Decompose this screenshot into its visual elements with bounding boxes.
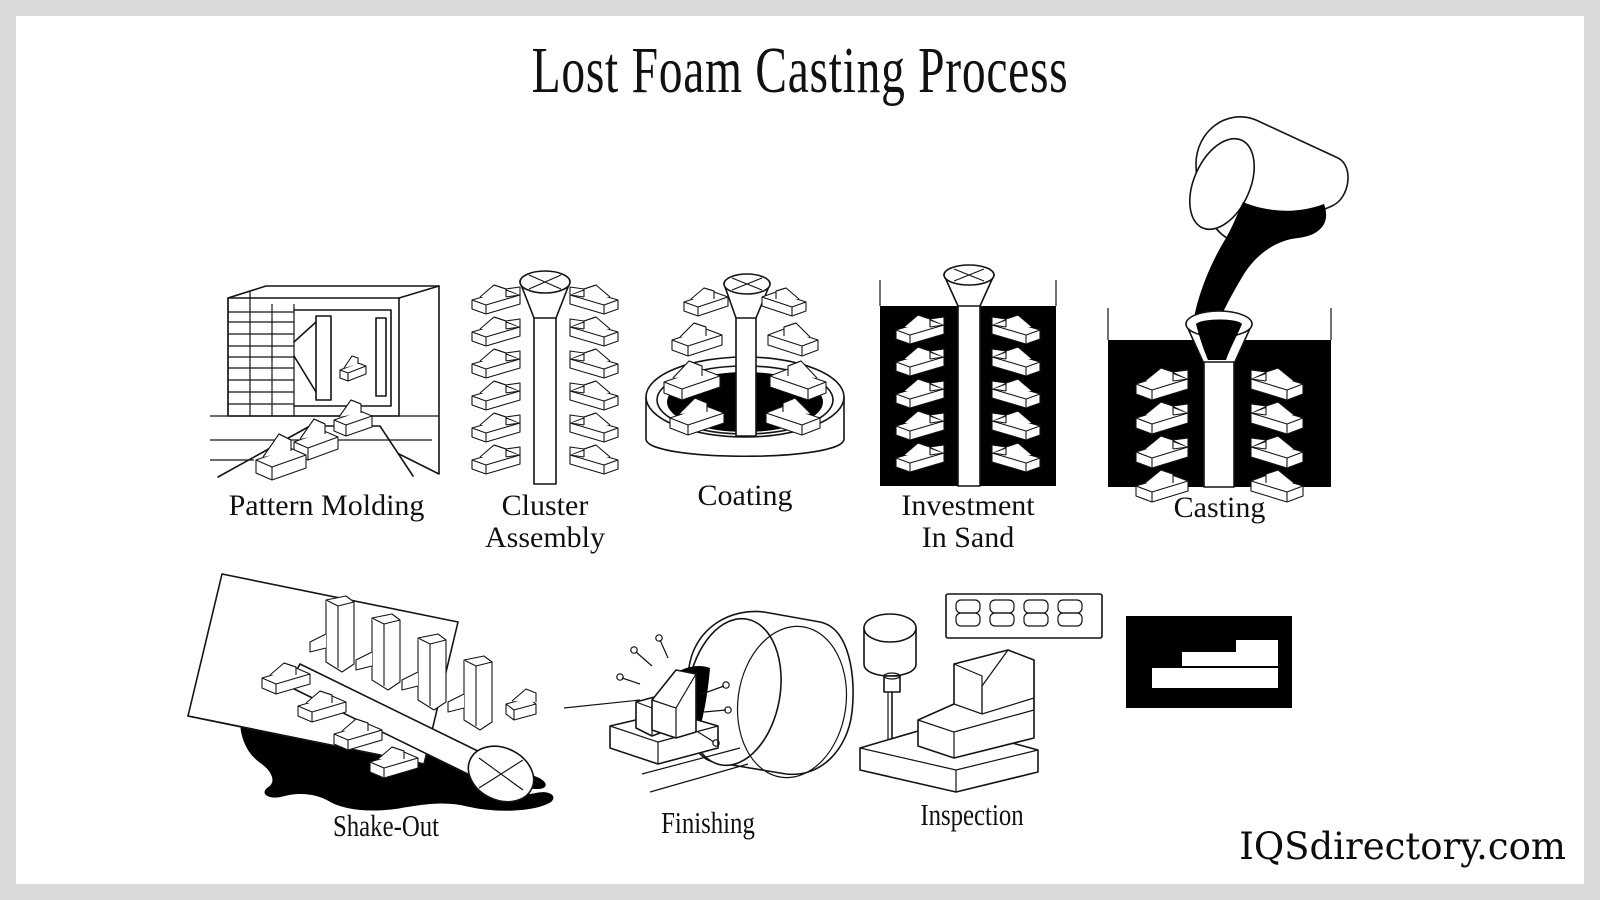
caption-casting: Casting [1092, 492, 1347, 524]
casting-illustration [1092, 112, 1347, 487]
coating-illustration [636, 264, 854, 479]
caption-shake-out: Shake-Out [218, 809, 554, 842]
caption-coating: Coating [636, 480, 854, 512]
caption-pattern-molding: Pattern Molding [194, 490, 459, 522]
cluster-assembly-illustration [450, 256, 640, 486]
caption-finishing: Finishing [593, 806, 823, 839]
caption-cluster-assembly: Cluster Assembly [450, 490, 640, 555]
watermark-iqs-directory: IQSdirectory.com [1239, 825, 1566, 868]
finished-part-silhouette [1126, 616, 1292, 708]
inspection-illustration [842, 588, 1102, 793]
digital-readout-display [946, 594, 1102, 638]
finishing-illustration [564, 608, 852, 803]
page-title: Lost Foam Casting Process [236, 38, 1365, 104]
shake-out-illustration [176, 556, 596, 816]
diagram-canvas: Lost Foam Casting Process [16, 16, 1584, 884]
investment-in-sand-illustration [868, 264, 1068, 486]
pattern-molding-illustration [194, 264, 459, 484]
page-frame: Lost Foam Casting Process [0, 0, 1600, 900]
caption-investment-in-sand: Investment In Sand [868, 490, 1068, 555]
caption-inspection: Inspection [868, 798, 1076, 831]
